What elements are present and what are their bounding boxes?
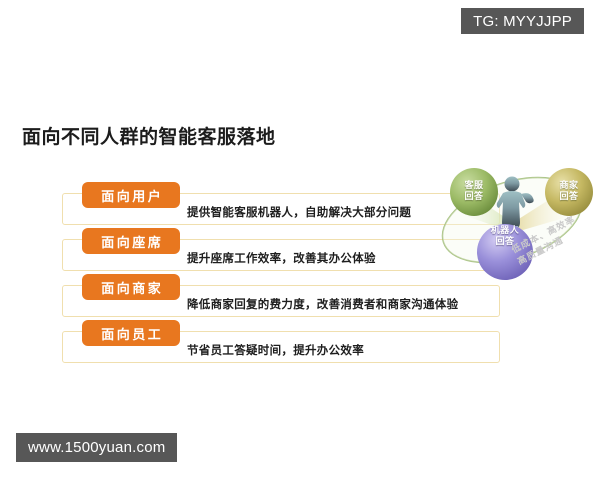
audience-description-employees: 节省员工答疑时间，提升办公效率 bbox=[187, 342, 364, 358]
audience-badge-merchants[interactable]: 面向商家 bbox=[82, 274, 180, 300]
audience-badge-users[interactable]: 面向用户 bbox=[82, 182, 180, 208]
slide-canvas: 面向不同人群的智能客服落地 面向用户 提供智能客服机器人，自助解决大部分问题 面… bbox=[0, 0, 600, 480]
bubble-merchant bbox=[545, 168, 593, 216]
audience-badge-employees[interactable]: 面向员工 bbox=[82, 320, 180, 346]
bubble-customer-service bbox=[450, 168, 498, 216]
page-title: 面向不同人群的智能客服落地 bbox=[22, 122, 276, 149]
answer-sources-diagram: 客服 回答 商家 回答 机器人 回答 低成本、高效率 高质量沟通 bbox=[424, 160, 600, 310]
watermark-bottom-left: www.1500yuan.com bbox=[16, 433, 177, 462]
audience-description-merchants: 降低商家回复的费力度，改善消费者和商家沟通体验 bbox=[187, 296, 458, 312]
table-row[interactable]: 面向员工 节省员工答疑时间，提升办公效率 bbox=[62, 320, 500, 366]
audience-badge-agents[interactable]: 面向座席 bbox=[82, 228, 180, 254]
audience-description-agents: 提升座席工作效率，改善其办公体验 bbox=[187, 250, 376, 266]
bubble-robot bbox=[477, 224, 533, 280]
audience-description-users: 提供智能客服机器人，自助解决大部分问题 bbox=[187, 204, 411, 220]
watermark-top-right: TG: MYYJJPP bbox=[461, 8, 584, 34]
